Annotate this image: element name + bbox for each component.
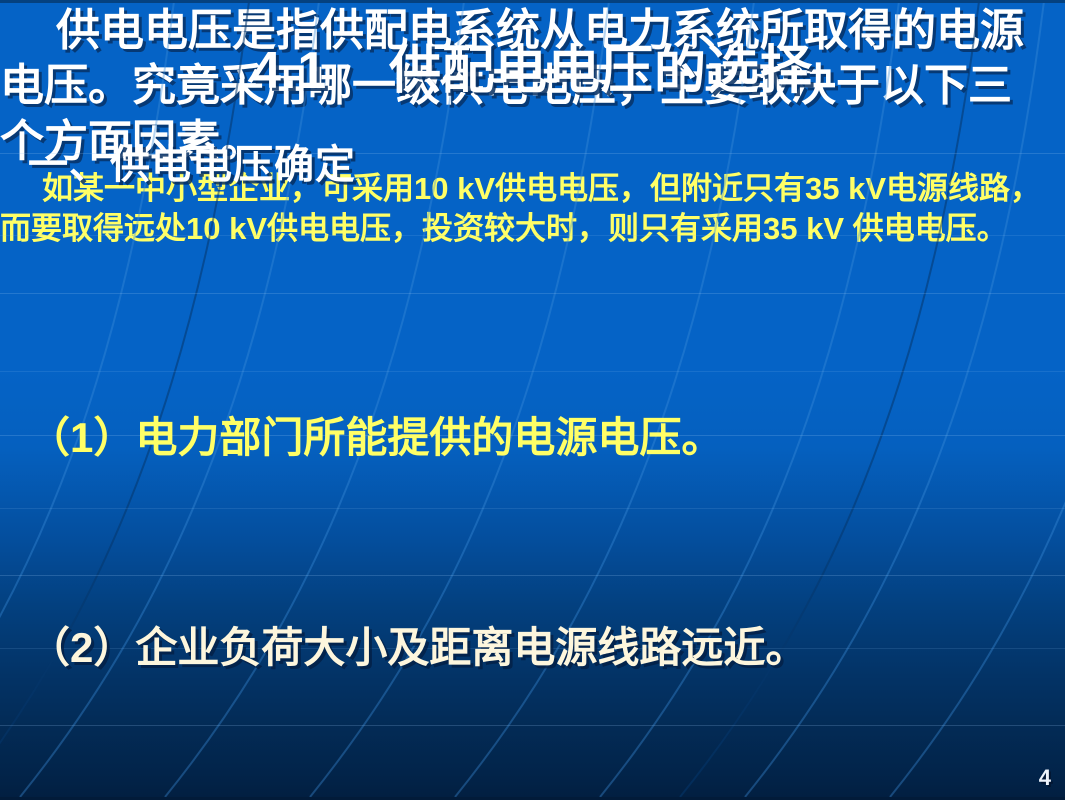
background-rule <box>0 725 1065 726</box>
slide-canvas: 4.1 供配电电压的选择 一、供电电压确定 供电电压是指供配电系统从电力系统所取… <box>0 0 1065 800</box>
background-rule <box>0 508 1065 509</box>
page-number: 4 <box>1039 765 1051 791</box>
background-rule <box>0 293 1065 294</box>
background-rule <box>0 371 1065 372</box>
background-rule <box>0 575 1065 576</box>
bullet-item-2: （2）企业负荷大小及距离电源线路远近。 <box>28 627 807 669</box>
section-heading: 一、供电电压确定 <box>28 145 356 185</box>
slide-title: 4.1 供配电电压的选择 <box>0 45 1065 97</box>
bullet-item-1: （1）电力部门所能提供的电源电压。 <box>28 417 723 459</box>
